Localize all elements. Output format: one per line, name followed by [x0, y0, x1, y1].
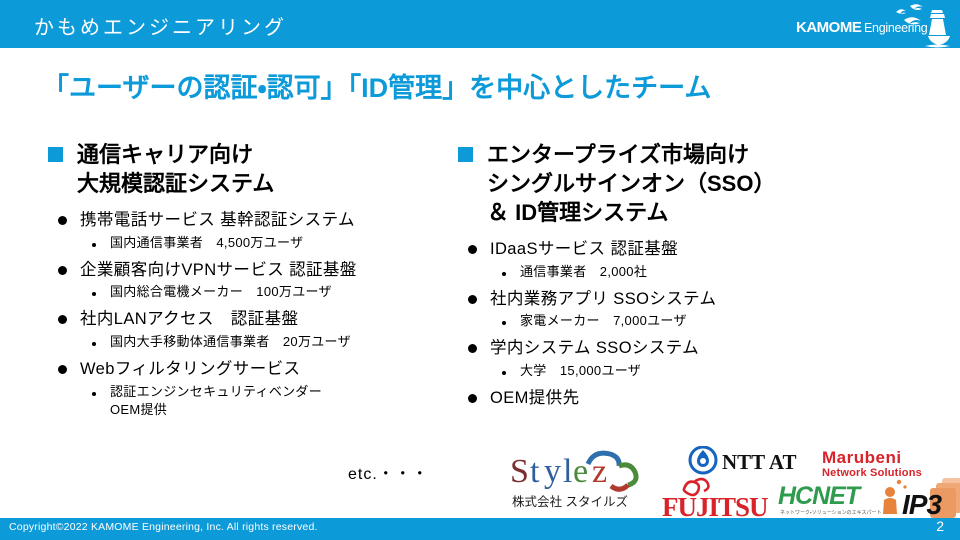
sub-list-item-label: 家電メーカー 7,000ユーザ	[520, 312, 898, 331]
bullet-dot-icon	[468, 245, 477, 254]
sub-bullet-list: 通信事業者 2,000社	[490, 263, 898, 282]
list-item: 社内業務アプリ SSOシステム 家電メーカー 7,000ユーザ	[458, 287, 898, 332]
sub-bullet-dot-icon	[92, 292, 96, 296]
partner-logo-ip3: IP3	[880, 474, 960, 522]
slide-root: { "colors": { "brand_blue": "#0C9AD9", "…	[0, 0, 960, 540]
sub-list-item: 国内大手移動体通信事業者 20万ユーザ	[80, 333, 448, 352]
stylez-letter: S	[510, 453, 529, 490]
sub-bullet-dot-icon	[502, 321, 506, 325]
page-number: 2	[936, 518, 944, 534]
bullet-dot-icon	[58, 216, 67, 225]
list-item-label: 社内LANアクセス 認証基盤	[80, 307, 448, 332]
sub-list-item-label: 国内通信事業者 4,500万ユーザ	[110, 234, 448, 253]
stylez-letter: e	[573, 453, 588, 490]
kamome-wordmark: KAMOME	[796, 19, 862, 36]
bullet-dot-icon	[58, 315, 67, 324]
stylez-letter: l	[563, 453, 572, 490]
sub-list-item: 家電メーカー 7,000ユーザ	[490, 312, 898, 331]
sub-bullet-dot-icon	[92, 392, 96, 396]
etc-note: etc.・・・	[348, 460, 429, 484]
bullet-dot-icon	[468, 394, 477, 403]
stylez-subtitle: 株式会社 スタイルズ	[512, 494, 628, 509]
heading-line: シングルサインオン（SSO）	[487, 169, 775, 198]
ntt-at-wordmark: NTT AT	[722, 450, 797, 474]
footer-copyright: Copyright©2022 KAMOME Engineering, Inc. …	[9, 521, 318, 533]
slide-title: 「ユーザーの認証・認可」「ID管理」を中心としたチーム	[42, 66, 711, 105]
sub-bullet-dot-icon	[92, 342, 96, 346]
section-heading-text: 通信キャリア向け 大規模認証システム	[77, 140, 274, 198]
stylez-letter: y	[544, 453, 561, 490]
heading-line: ＆ ID管理システム	[487, 198, 775, 227]
list-item-label: 携帯電話サービス 基幹認証システム	[80, 208, 448, 233]
list-item-label: 社内業務アプリ SSOシステム	[490, 287, 898, 312]
section-heading: 通信キャリア向け 大規模認証システム	[48, 140, 448, 198]
sub-list-item-label: 認証エンジンセキュリティベンダー OEM提供	[110, 383, 448, 421]
partner-logo-fujitsu: FUJITSU	[660, 476, 770, 522]
heading-line: エンタープライズ市場向け	[487, 140, 775, 169]
header-company-name: かもめエンジニアリング	[34, 11, 287, 40]
list-item-label: OEM提供先	[490, 386, 898, 411]
sub-list-item: 認証エンジンセキュリティベンダー OEM提供	[80, 383, 448, 421]
bullet-list: 携帯電話サービス 基幹認証システム 国内通信事業者 4,500万ユーザ 企業顧客…	[48, 208, 448, 420]
list-item: 企業顧客向けVPNサービス 認証基盤 国内総合電機メーカー 100万ユーザ	[48, 258, 448, 303]
ip3-wordmark: IP3	[902, 489, 942, 520]
sub-list-item: 国内総合電機メーカー 100万ユーザ	[80, 283, 448, 302]
bullet-dot-icon	[468, 295, 477, 304]
partner-logo-ntt-at: NTT AT	[688, 446, 803, 476]
sub-list-item: 国内通信事業者 4,500万ユーザ	[80, 234, 448, 253]
section-heading: エンタープライズ市場向け シングルサインオン（SSO） ＆ ID管理システム	[458, 140, 898, 227]
bullet-list: IDaaSサービス 認証基盤 通信事業者 2,000社 社内業務アプリ SSOシ…	[458, 237, 898, 411]
sub-list-item: 通信事業者 2,000社	[490, 263, 898, 282]
sub-list-item-label: 国内大手移動体通信事業者 20万ユーザ	[110, 333, 448, 352]
sub-list-item: 大学 15,000ユーザ	[490, 362, 898, 381]
list-item: Webフィルタリングサービス 認証エンジンセキュリティベンダー OEM提供	[48, 357, 448, 420]
section-heading-text: エンタープライズ市場向け シングルサインオン（SSO） ＆ ID管理システム	[487, 140, 775, 227]
bullet-dot-icon	[58, 266, 67, 275]
sub-bullet-list: 家電メーカー 7,000ユーザ	[490, 312, 898, 331]
list-item: 学内システム SSOシステム 大学 15,000ユーザ	[458, 336, 898, 381]
sub-bullet-dot-icon	[502, 272, 506, 276]
hcnet-wordmark: HCNET	[778, 482, 863, 510]
kamome-logo: KAMOME Engineering	[792, 2, 952, 48]
hcnet-tagline: ネットワーク・ソリューションのエキスパート	[780, 510, 881, 516]
sub-bullet-list: 国内大手移動体通信事業者 20万ユーザ	[80, 333, 448, 352]
list-item: 携帯電話サービス 基幹認証システム 国内通信事業者 4,500万ユーザ	[48, 208, 448, 253]
lighthouse-icon	[925, 10, 950, 48]
list-item: 社内LANアクセス 認証基盤 国内大手移動体通信事業者 20万ユーザ	[48, 307, 448, 352]
list-item-label: IDaaSサービス 認証基盤	[490, 237, 898, 262]
list-item-label: Webフィルタリングサービス	[80, 357, 448, 382]
list-item-label: 企業顧客向けVPNサービス 認証基盤	[80, 258, 448, 283]
bullet-dot-icon	[468, 344, 477, 353]
list-item: IDaaSサービス 認証基盤 通信事業者 2,000社	[458, 237, 898, 282]
square-marker-icon	[48, 147, 63, 162]
partner-logo-stylez: S t y l e z 株式会社 スタイルズ	[508, 448, 658, 514]
kamome-logo-svg: KAMOME Engineering	[792, 2, 952, 48]
bullet-dot-icon	[58, 365, 67, 374]
stylez-letter: t	[530, 453, 540, 490]
sub-bullet-list: 国内総合電機メーカー 100万ユーザ	[80, 283, 448, 302]
ntt-circle-icon	[690, 447, 716, 473]
sub-bullet-list: 認証エンジンセキュリティベンダー OEM提供	[80, 383, 448, 421]
sub-bullet-dot-icon	[92, 243, 96, 247]
engineering-wordmark: Engineering	[864, 21, 928, 35]
column-enterprise-market: エンタープライズ市場向け シングルサインオン（SSO） ＆ ID管理システム I…	[458, 140, 898, 413]
list-item: OEM提供先	[458, 386, 898, 411]
sub-list-item-label: 通信事業者 2,000社	[520, 263, 898, 282]
list-item-label: 学内システム SSOシステム	[490, 336, 898, 361]
heading-line: 通信キャリア向け	[77, 140, 274, 169]
sub-bullet-list: 国内通信事業者 4,500万ユーザ	[80, 234, 448, 253]
marubeni-wordmark: Marubeni	[822, 448, 902, 467]
sub-list-item-label: 国内総合電機メーカー 100万ユーザ	[110, 283, 448, 302]
sub-list-item-label: 大学 15,000ユーザ	[520, 362, 898, 381]
square-marker-icon	[458, 147, 473, 162]
heading-line: 大規模認証システム	[77, 169, 274, 198]
partner-logo-strip: S t y l e z 株式会社 スタイルズ NTT AT	[508, 446, 958, 522]
sub-bullet-list: 大学 15,000ユーザ	[490, 362, 898, 381]
sub-bullet-dot-icon	[502, 371, 506, 375]
column-telecom-carrier: 通信キャリア向け 大規模認証システム 携帯電話サービス 基幹認証システム 国内通…	[48, 140, 448, 425]
partner-logo-hcnet: HCNET ネットワーク・ソリューションのエキスパート	[776, 478, 886, 520]
